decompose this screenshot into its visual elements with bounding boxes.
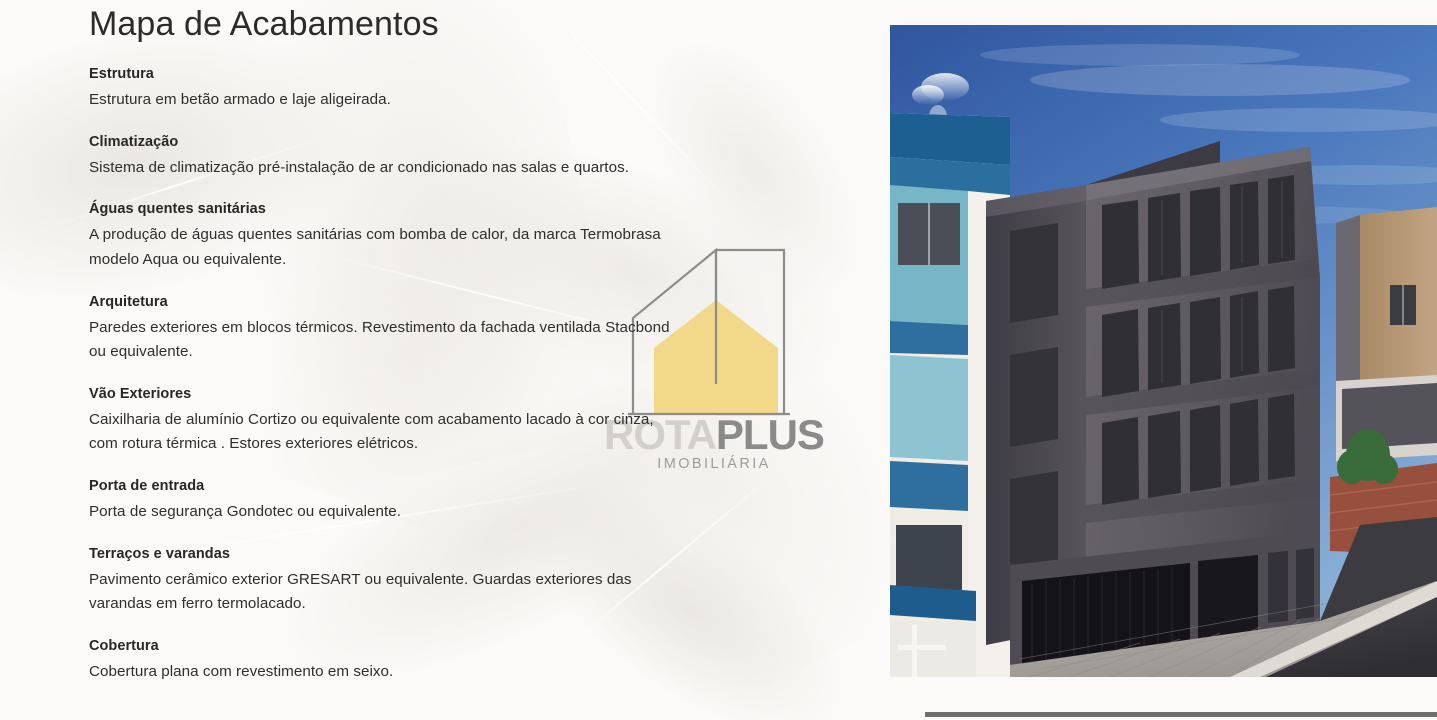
specifications-panel: Mapa de Acabamentos EstruturaEstrutura e… [0,0,880,720]
spec-section: ClimatizaçãoSistema de climatização pré-… [89,132,849,181]
spec-section-body: Paredes exteriores em blocos térmicos. R… [89,316,849,365]
spec-section-title: Porta de entrada [89,476,849,497]
spec-section-body: Caixilharia de alumínio Cortizo ou equiv… [89,408,849,457]
spec-section-line: ou equivalente. [89,340,849,365]
spec-section-line: Estrutura em betão armado e laje aligeir… [89,88,849,113]
spec-section-body: Porta de segurança Gondotec ou equivalen… [89,500,849,525]
spec-section-line: Sistema de climatização pré-instalação d… [89,156,849,181]
spec-section-line: A produção de águas quentes sanitárias c… [89,223,849,248]
spec-section-title: Vão Exteriores [89,384,849,405]
spec-section-line: com rotura térmica . Estores exteriores … [89,432,849,457]
spec-section: Porta de entradaPorta de segurança Gondo… [89,476,849,525]
page-title: Mapa de Acabamentos [89,6,439,43]
spec-section-body: Pavimento cerâmico exterior GRESART ou e… [89,568,849,617]
spec-section: Terraços e varandasPavimento cerâmico ex… [89,544,849,617]
spec-section-body: Cobertura plana com revestimento em seix… [89,660,849,685]
spec-section-title: Estrutura [89,64,849,85]
spec-section-line: Cobertura plana com revestimento em seix… [89,660,849,685]
spec-section-title: Terraços e varandas [89,544,849,565]
spec-section-line: varandas em ferro termolacado. [89,592,849,617]
spec-section: Vão ExterioresCaixilharia de alumínio Co… [89,384,849,457]
specification-sections: EstruturaEstrutura em betão armado e laj… [89,64,849,685]
spec-section-body: A produção de águas quentes sanitárias c… [89,223,849,272]
spec-section-title: Arquitetura [89,292,849,313]
spec-section: Águas quentes sanitáriasA produção de ág… [89,199,849,272]
spec-section-title: Cobertura [89,636,849,657]
spec-section-line: Caixilharia de alumínio Cortizo ou equiv… [89,408,849,433]
spec-section: EstruturaEstrutura em betão armado e laj… [89,64,849,113]
spec-section: CoberturaCobertura plana com revestiment… [89,636,849,685]
bottom-divider-bar [925,712,1437,717]
building-render-image [890,25,1437,677]
spec-section-line: Pavimento cerâmico exterior GRESART ou e… [89,568,849,593]
spec-section-title: Climatização [89,132,849,153]
spec-section-line: Paredes exteriores em blocos térmicos. R… [89,316,849,341]
document-page: ROTAPLUS IMOBILIÁRIA Mapa de Acabamentos… [0,0,1437,720]
spec-section-line: modelo Aqua ou equivalente. [89,248,849,273]
spec-section-body: Sistema de climatização pré-instalação d… [89,156,849,181]
spec-section: ArquiteturaParedes exteriores em blocos … [89,292,849,365]
spec-section-title: Águas quentes sanitárias [89,199,849,220]
spec-section-line: Porta de segurança Gondotec ou equivalen… [89,500,849,525]
spec-section-body: Estrutura em betão armado e laje aligeir… [89,88,849,113]
